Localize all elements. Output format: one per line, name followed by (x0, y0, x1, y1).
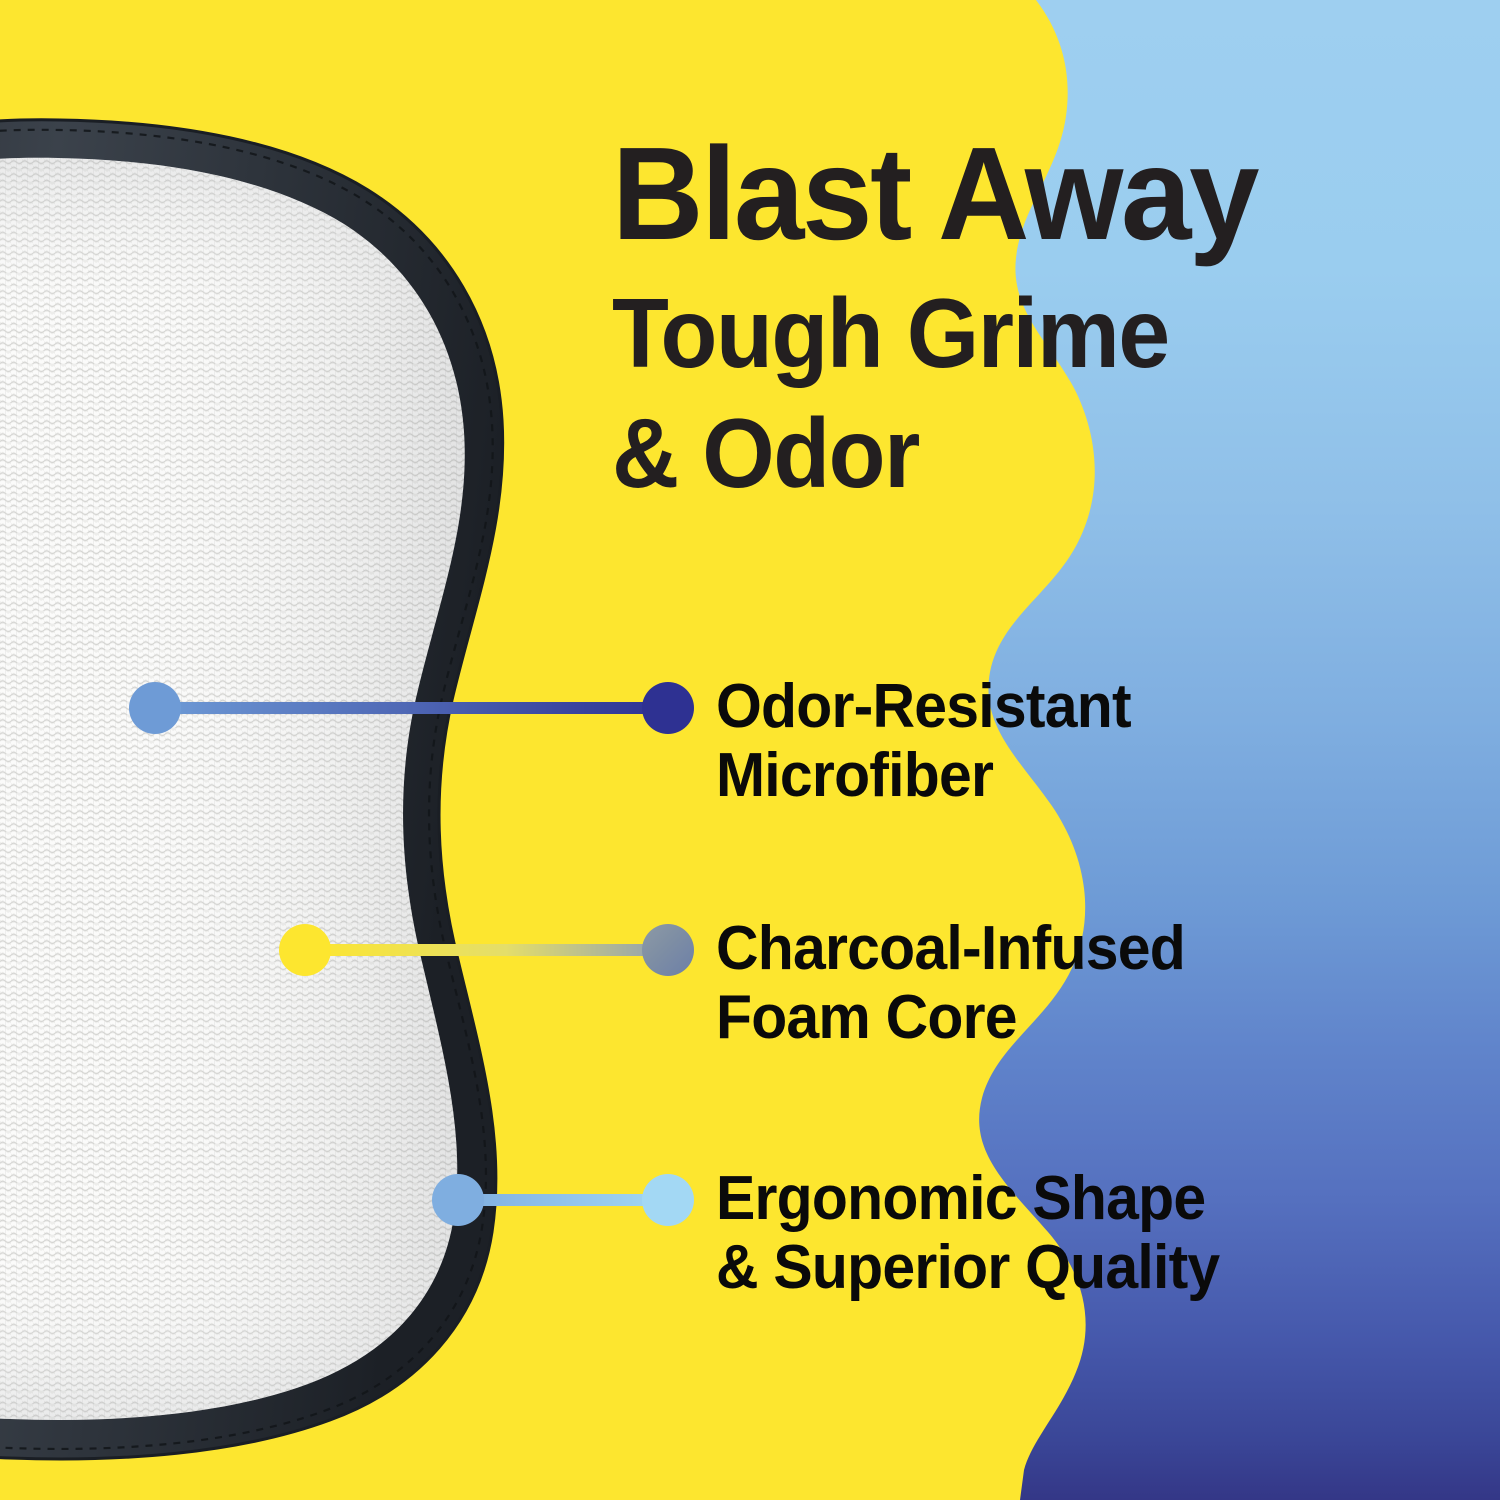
product-point-ergonomic-shape-superior-quality (432, 1174, 484, 1226)
feature-2-line-2: Foam Core (716, 983, 1185, 1052)
callout-dot-odor-resistant-microfiber (642, 682, 694, 734)
feature-charcoal-infused-foam-core: Charcoal-Infused Foam Core (716, 914, 1210, 1053)
headline-line-1: Blast Away (612, 128, 1438, 260)
feature-3-line-1: Ergonomic Shape (716, 1164, 1205, 1233)
product-point-charcoal-infused-foam-core (279, 924, 331, 976)
sponge-image (0, 0, 620, 1500)
feature-ergonomic-shape-superior-quality: Ergonomic Shape & Superior Quality (716, 1164, 1246, 1303)
product-point-odor-resistant-microfiber (129, 682, 181, 734)
feature-odor-resistant-microfiber: Odor-Resistant Microfiber (716, 672, 1153, 811)
feature-3-line-2: & Superior Quality (716, 1233, 1219, 1302)
headline-block: Blast Away Tough Grime & Odor (612, 128, 1472, 513)
feature-label-ergonomic-shape-superior-quality: Ergonomic Shape & Superior Quality (716, 1164, 1219, 1303)
feature-1-line-1: Odor-Resistant (716, 672, 1131, 741)
callout-dot-ergonomic-shape-superior-quality (642, 1174, 694, 1226)
feature-1-line-2: Microfiber (716, 741, 1131, 810)
feature-label-charcoal-infused-foam-core: Charcoal-Infused Foam Core (716, 914, 1185, 1053)
feature-label-odor-resistant-microfiber: Odor-Resistant Microfiber (716, 672, 1131, 811)
headline-line-3: & Odor (612, 394, 1429, 514)
product-infographic: Blast Away Tough Grime & Odor (0, 0, 1500, 1500)
headline-line-2: Tough Grime (612, 274, 1429, 394)
feature-2-line-1: Charcoal-Infused (716, 914, 1185, 983)
callout-dot-charcoal-infused-foam-core (642, 924, 694, 976)
